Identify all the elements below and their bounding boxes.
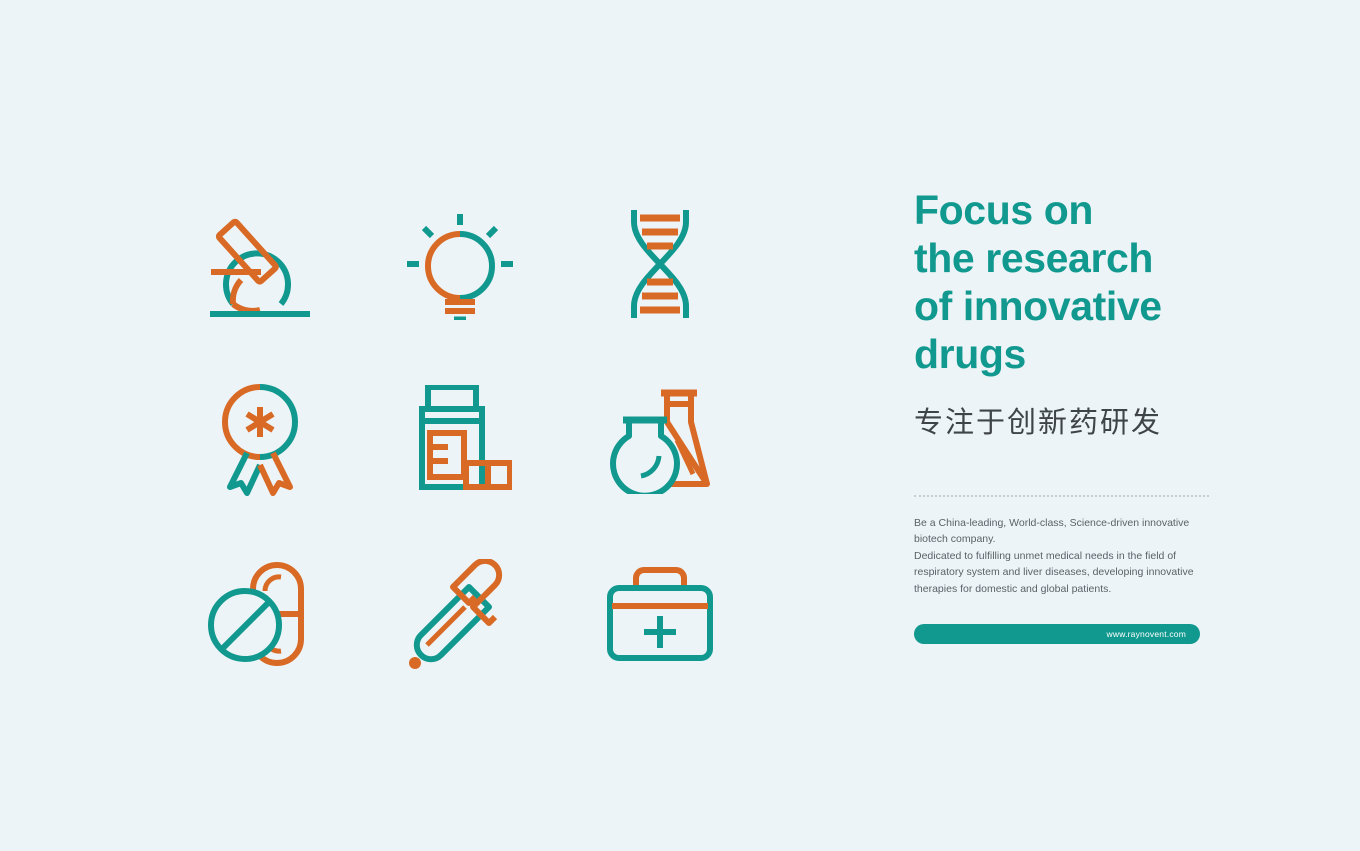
- website-url-label: www.raynovent.com: [1107, 629, 1186, 639]
- poster-canvas: Focus on the research of innovative drug…: [0, 0, 1360, 851]
- dropper-icon: [407, 559, 513, 669]
- icon-cell-pill-bottle: [360, 351, 560, 526]
- icon-cell-tablets: [160, 526, 360, 701]
- flasks-icon: [605, 384, 715, 494]
- page-title: Focus on the research of innovative drug…: [914, 186, 1214, 378]
- page-subtitle: 专注于创新药研发: [914, 378, 1214, 442]
- icon-cell-dropper: [360, 526, 560, 701]
- icon-grid: [160, 176, 760, 701]
- medical-kit-icon: [606, 566, 714, 662]
- tablets-icon: [207, 561, 313, 667]
- microscope-icon: [205, 208, 315, 320]
- lightbulb-icon: [404, 208, 516, 320]
- award-ribbon-icon: [207, 381, 313, 497]
- icon-cell-microscope: [160, 176, 360, 351]
- icon-cell-lightbulb: [360, 176, 560, 351]
- icon-cell-award: [160, 351, 360, 526]
- icon-cell-flasks: [560, 351, 760, 526]
- body-copy: Be a China-leading, World-class, Science…: [914, 498, 1214, 597]
- icon-cell-medical-kit: [560, 526, 760, 701]
- dna-helix-icon: [614, 208, 706, 320]
- icon-cell-dna: [560, 176, 760, 351]
- pill-bottle-icon: [408, 385, 512, 493]
- content-column: Focus on the research of innovative drug…: [914, 186, 1214, 644]
- website-url-pill[interactable]: www.raynovent.com: [914, 624, 1200, 644]
